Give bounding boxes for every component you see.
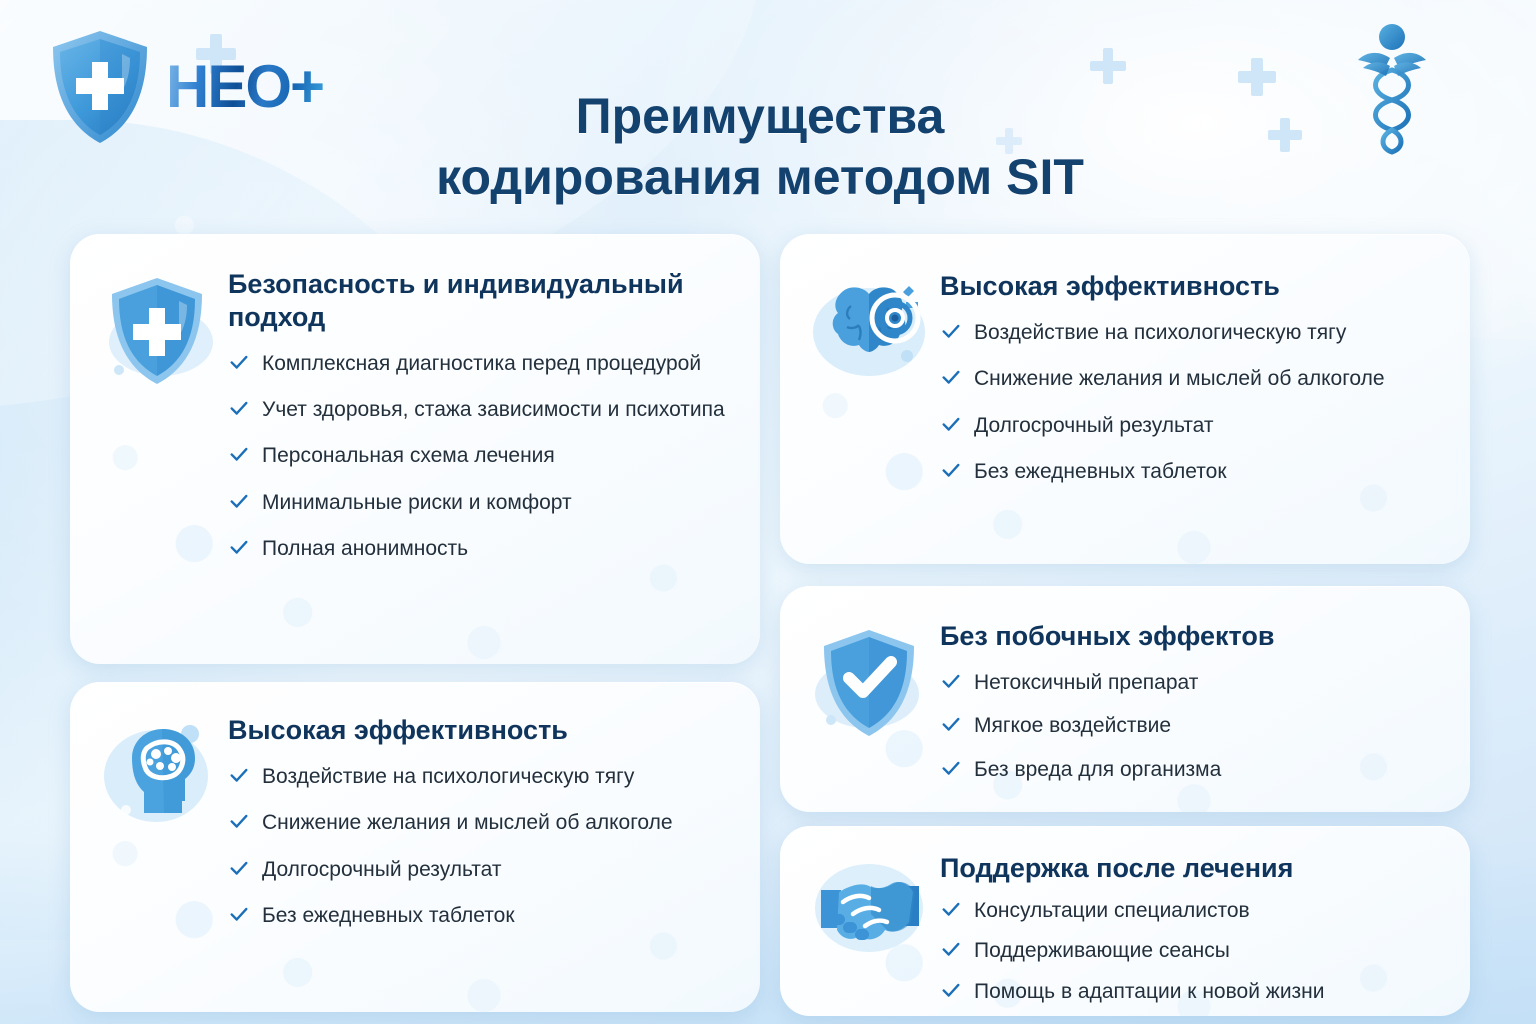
card-title: Без побочных эффектов — [940, 620, 1444, 653]
list-item: Снижение желания и мыслей об алкоголе — [228, 809, 734, 836]
list-item: Воздействие на психологическую тягу — [940, 319, 1444, 346]
list-item: Минимальные риски и комфорт — [228, 489, 734, 516]
card-no-side-effects[interactable]: Без побочных эффектов Нетоксичный препар… — [780, 586, 1470, 812]
list-item: Долгосрочный результат — [228, 856, 734, 883]
card-support[interactable]: Поддержка после лечения Консультации спе… — [780, 826, 1470, 1016]
check-icon — [228, 351, 250, 373]
check-icon — [940, 320, 962, 342]
page-title: Преимущества кодирования методом SIT — [300, 86, 1220, 208]
list-item: Консультации специалистов — [940, 897, 1444, 924]
list-item-label: Персональная схема лечения — [262, 444, 555, 467]
brand-logo[interactable]: НЕО+ — [48, 28, 323, 146]
check-icon — [940, 757, 962, 779]
list-item-label: Консультации специалистов — [974, 899, 1250, 922]
list-item-label: Долгосрочный результат — [262, 858, 502, 881]
page-title-line-1: Преимущества — [576, 88, 945, 144]
list-item-label: Поддерживающие сеансы — [974, 939, 1230, 962]
list-item-label: Воздействие на психологическую тягу — [974, 321, 1346, 344]
check-icon — [940, 898, 962, 920]
feature-list: Воздействие на психологическую тягу Сниж… — [228, 763, 734, 929]
check-icon — [228, 490, 250, 512]
card-icon-handshake — [800, 852, 940, 1016]
list-item: Снижение желания и мыслей об алкоголе — [940, 365, 1444, 392]
list-item-label: Без ежедневных таблеток — [262, 904, 515, 927]
list-item: Мягкое воздействие — [940, 712, 1444, 739]
list-item-label: Долгосрочный результат — [974, 414, 1214, 437]
check-icon — [940, 459, 962, 481]
list-item-label: Мягкое воздействие — [974, 714, 1171, 737]
feature-list: Нетоксичный препарат Мягкое воздействие … — [940, 669, 1444, 783]
shield-cross-icon — [48, 28, 152, 146]
list-item-label: Полная анонимность — [262, 537, 468, 560]
list-item: Без вреда для организма — [940, 756, 1444, 783]
check-icon — [940, 938, 962, 960]
card-icon-shield-cross — [88, 268, 228, 562]
list-item: Учет здоровья, стажа зависимости и психо… — [228, 396, 734, 423]
list-item-label: Без ежедневных таблеток — [974, 460, 1227, 483]
list-item-label: Комплексная диагностика перед процедурой — [262, 352, 701, 375]
caduceus-icon — [1344, 18, 1440, 168]
card-efficiency-left[interactable]: Высокая эффективность Воздействие на пси… — [70, 682, 760, 1012]
card-safety[interactable]: Безопасность и индивидуальный подход Ком… — [70, 234, 760, 664]
feature-list: Воздействие на психологическую тягу Сниж… — [940, 319, 1444, 485]
check-icon — [940, 366, 962, 388]
list-item-label: Нетоксичный препарат — [974, 671, 1198, 694]
feature-list: Консультации специалистов Поддерживающие… — [940, 897, 1444, 1005]
card-efficiency-right[interactable]: Высокая эффективность Воздействие на пси… — [780, 234, 1470, 564]
feature-list: Комплексная диагностика перед процедурой… — [228, 350, 734, 562]
card-icon-head-brain — [88, 714, 228, 929]
list-item: Долгосрочный результат — [940, 412, 1444, 439]
check-icon — [940, 979, 962, 1001]
card-icon-brain-target — [800, 270, 940, 485]
list-item: Нетоксичный препарат — [940, 669, 1444, 696]
list-item: Воздействие на психологическую тягу — [228, 763, 734, 790]
card-title: Безопасность и индивидуальный подход — [228, 268, 734, 334]
list-item-label: Снижение желания и мыслей об алкоголе — [262, 811, 673, 834]
list-item: Поддерживающие сеансы — [940, 937, 1444, 964]
check-icon — [228, 903, 250, 925]
check-icon — [228, 443, 250, 465]
list-item-label: Без вреда для организма — [974, 758, 1221, 781]
check-icon — [228, 857, 250, 879]
list-item-label: Помощь в адаптации к новой жизни — [974, 980, 1325, 1003]
list-item: Помощь в адаптации к новой жизни — [940, 978, 1444, 1005]
list-item-label: Минимальные риски и комфорт — [262, 491, 572, 514]
list-item: Без ежедневных таблеток — [228, 902, 734, 929]
cards-board: Безопасность и индивидуальный подход Ком… — [0, 208, 1536, 1008]
list-item-label: Учет здоровья, стажа зависимости и психо… — [262, 398, 725, 421]
page-title-line-2: кодирования методом SIT — [300, 147, 1220, 208]
list-item: Персональная схема лечения — [228, 442, 734, 469]
check-icon — [228, 536, 250, 558]
check-icon — [228, 764, 250, 786]
list-item-label: Снижение желания и мыслей об алкоголе — [974, 367, 1385, 390]
check-icon — [228, 397, 250, 419]
list-item: Полная анонимность — [228, 535, 734, 562]
page-header: НЕО+ Преимущества кодирования методом SI… — [0, 0, 1536, 210]
card-title: Поддержка после лечения — [940, 852, 1444, 885]
check-icon — [228, 810, 250, 832]
check-icon — [940, 413, 962, 435]
check-icon — [940, 713, 962, 735]
list-item: Без ежедневных таблеток — [940, 458, 1444, 485]
card-title: Высокая эффективность — [940, 270, 1444, 303]
list-item-label: Воздействие на психологическую тягу — [262, 765, 634, 788]
card-icon-shield-check — [800, 620, 940, 799]
list-item: Комплексная диагностика перед процедурой — [228, 350, 734, 377]
check-icon — [940, 670, 962, 692]
infographic-root: НЕО+ Преимущества кодирования методом SI… — [0, 0, 1536, 1024]
card-title: Высокая эффективность — [228, 714, 734, 747]
